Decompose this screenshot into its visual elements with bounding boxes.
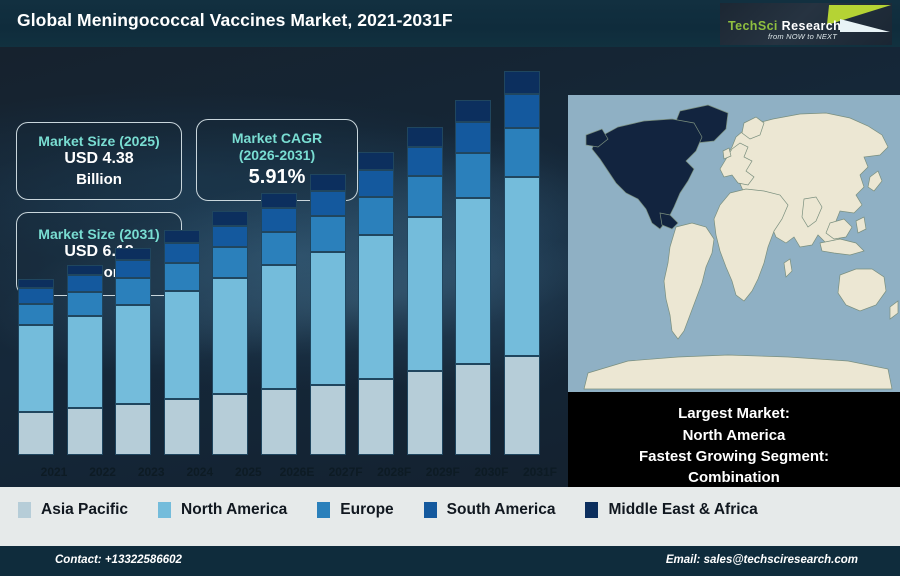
bar-2028F[interactable] (358, 152, 394, 455)
header-bar: Global Meningococcal Vaccines Market, 20… (0, 0, 900, 47)
bar-segment-north-america-2022[interactable] (67, 316, 103, 409)
bar-segment-north-america-2028F[interactable] (358, 235, 394, 378)
footer-bar: Contact: +13322586602 Email: sales@techs… (0, 546, 900, 576)
bar-2026E[interactable] (261, 193, 297, 455)
bar-segment-asia-pacific-2031F[interactable] (504, 356, 540, 455)
bar-segment-north-america-2025[interactable] (212, 278, 248, 394)
bar-segment-europe-2023[interactable] (115, 278, 151, 304)
x-axis-label-2031F: 2031F (510, 465, 570, 479)
bar-segment-europe-2026E[interactable] (261, 232, 297, 265)
bar-segment-middle-east-africa-2030F[interactable] (455, 100, 491, 121)
largest-market-label: Largest Market: (678, 403, 790, 424)
bar-segment-north-america-2027F[interactable] (310, 252, 346, 385)
legend-swatch-north-america (158, 502, 171, 518)
bar-segment-middle-east-africa-2022[interactable] (67, 265, 103, 276)
bar-segment-asia-pacific-2021[interactable] (18, 412, 54, 455)
bar-2021[interactable] (18, 279, 54, 455)
stacked-bar-chart: 202120222023202420252026E2027F2028F2029F… (0, 47, 565, 487)
bar-2023[interactable] (115, 248, 151, 455)
legend-item-asia-pacific[interactable]: Asia Pacific (18, 501, 128, 519)
bar-segment-europe-2022[interactable] (67, 292, 103, 316)
bar-2025[interactable] (212, 211, 248, 455)
chart-legend: Asia PacificNorth AmericaEuropeSouth Ame… (0, 487, 900, 533)
bar-segment-europe-2030F[interactable] (455, 153, 491, 198)
legend-swatch-middle-east-africa (585, 502, 598, 518)
bar-2027F[interactable] (310, 174, 346, 455)
bar-segment-south-america-2021[interactable] (18, 288, 54, 304)
bar-segment-europe-2031F[interactable] (504, 128, 540, 177)
bar-segment-south-america-2027F[interactable] (310, 191, 346, 216)
bar-segment-south-america-2028F[interactable] (358, 170, 394, 197)
bar-segment-europe-2028F[interactable] (358, 197, 394, 235)
world-map (568, 95, 900, 392)
logo-wordmark: TechSci Research (728, 19, 841, 33)
world-map-svg (568, 95, 900, 392)
bar-segment-south-america-2026E[interactable] (261, 208, 297, 231)
legend-item-north-america[interactable]: North America (158, 501, 287, 519)
bar-2030F[interactable] (455, 100, 491, 455)
logo-arrow-secondary-icon (840, 19, 890, 32)
bar-2031F[interactable] (504, 71, 540, 455)
largest-market-value: North America (683, 425, 786, 446)
bar-segment-middle-east-africa-2026E[interactable] (261, 193, 297, 209)
key-insights-box: Largest Market: North America Fastest Gr… (568, 392, 900, 487)
bar-segment-south-america-2030F[interactable] (455, 122, 491, 153)
bar-segment-asia-pacific-2023[interactable] (115, 404, 151, 455)
legend-item-south-america[interactable]: South America (424, 501, 556, 519)
bar-segment-europe-2021[interactable] (18, 304, 54, 325)
legend-label-asia-pacific: Asia Pacific (41, 501, 128, 519)
bar-segment-middle-east-africa-2027F[interactable] (310, 174, 346, 191)
bar-2022[interactable] (67, 265, 103, 455)
bar-segment-europe-2029F[interactable] (407, 176, 443, 218)
bar-segment-south-america-2031F[interactable] (504, 94, 540, 127)
footer-email[interactable]: Email: sales@techsciresearch.com (666, 554, 858, 566)
bar-segment-europe-2024[interactable] (164, 263, 200, 292)
bar-2024[interactable] (164, 230, 200, 455)
bar-segment-south-america-2025[interactable] (212, 226, 248, 247)
bar-2029F[interactable] (407, 127, 443, 455)
bar-segment-middle-east-africa-2023[interactable] (115, 248, 151, 260)
bar-segment-asia-pacific-2028F[interactable] (358, 379, 394, 455)
footer-contact: Contact: +13322586602 (55, 554, 182, 566)
bar-segment-asia-pacific-2025[interactable] (212, 394, 248, 455)
logo-text-research: Research (778, 19, 841, 33)
bar-segment-europe-2025[interactable] (212, 247, 248, 278)
bar-segment-middle-east-africa-2031F[interactable] (504, 71, 540, 95)
bar-segment-asia-pacific-2030F[interactable] (455, 364, 491, 455)
chart-x-axis: 202120222023202420252026E2027F2028F2029F… (0, 457, 565, 487)
bar-segment-south-america-2029F[interactable] (407, 147, 443, 176)
bar-segment-middle-east-africa-2029F[interactable] (407, 127, 443, 147)
bar-segment-middle-east-africa-2028F[interactable] (358, 152, 394, 170)
bar-segment-asia-pacific-2029F[interactable] (407, 371, 443, 455)
infographic-root: Global Meningococcal Vaccines Market, 20… (0, 0, 900, 576)
techsci-research-logo: TechSci Research from NOW to NEXT (720, 3, 892, 45)
page-title: Global Meningococcal Vaccines Market, 20… (17, 10, 453, 31)
bar-segment-middle-east-africa-2025[interactable] (212, 211, 248, 225)
legend-swatch-south-america (424, 502, 437, 518)
bar-segment-north-america-2031F[interactable] (504, 177, 540, 356)
bar-segment-asia-pacific-2024[interactable] (164, 399, 200, 455)
bar-segment-north-america-2021[interactable] (18, 325, 54, 412)
bar-segment-europe-2027F[interactable] (310, 216, 346, 252)
legend-label-north-america: North America (181, 501, 287, 519)
legend-label-europe: Europe (340, 501, 393, 519)
logo-text-techsci: TechSci (728, 19, 778, 33)
fastest-segment-value: Combination (688, 467, 780, 487)
bar-segment-north-america-2023[interactable] (115, 305, 151, 404)
bar-segment-asia-pacific-2027F[interactable] (310, 385, 346, 455)
bar-segment-middle-east-africa-2021[interactable] (18, 279, 54, 289)
bar-segment-north-america-2029F[interactable] (407, 217, 443, 371)
legend-swatch-asia-pacific (18, 502, 31, 518)
legend-label-middle-east-africa: Middle East & Africa (608, 501, 757, 519)
bar-segment-north-america-2026E[interactable] (261, 265, 297, 389)
legend-item-middle-east-africa[interactable]: Middle East & Africa (585, 501, 757, 519)
bar-segment-south-america-2022[interactable] (67, 275, 103, 292)
logo-tagline: from NOW to NEXT (768, 32, 837, 41)
bar-segment-middle-east-africa-2024[interactable] (164, 230, 200, 243)
bar-segment-asia-pacific-2026E[interactable] (261, 389, 297, 455)
bar-segment-asia-pacific-2022[interactable] (67, 408, 103, 455)
bar-segment-south-america-2024[interactable] (164, 243, 200, 263)
bar-segment-south-america-2023[interactable] (115, 260, 151, 278)
bar-segment-north-america-2030F[interactable] (455, 198, 491, 364)
legend-label-south-america: South America (447, 501, 556, 519)
legend-item-europe[interactable]: Europe (317, 501, 393, 519)
bar-segment-north-america-2024[interactable] (164, 291, 200, 398)
main-panel: Market Size (2025) USD 4.38 Billion Mark… (0, 47, 900, 487)
fastest-segment-label: Fastest Growing Segment: (639, 446, 829, 467)
legend-swatch-europe (317, 502, 330, 518)
